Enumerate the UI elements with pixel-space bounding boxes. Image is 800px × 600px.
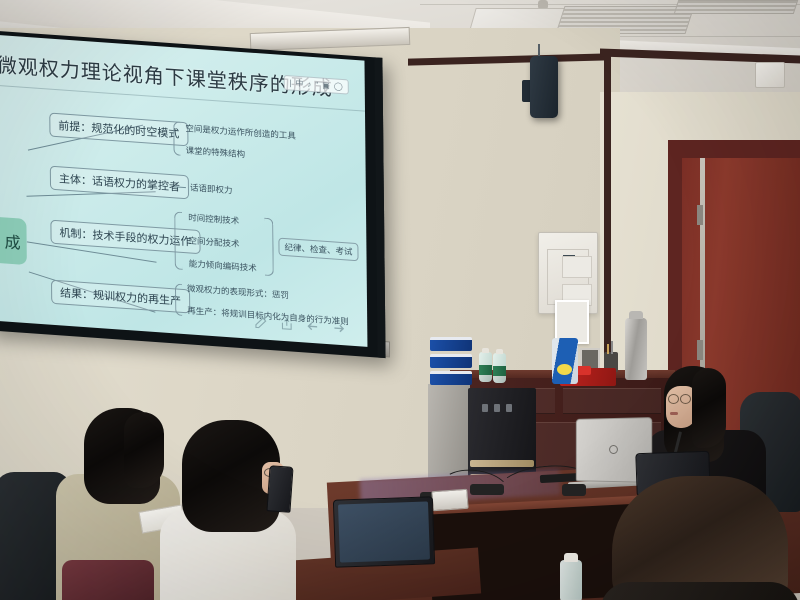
mindmap-leaf: 课堂的特殊结构 <box>185 144 245 160</box>
mindmap-node-result[interactable]: 结果：规训权力的再生产 <box>51 280 190 314</box>
mindmap-brace-group <box>264 218 274 277</box>
ime-glyph-4: ▣ <box>322 81 330 91</box>
blue-product-pack <box>552 338 578 384</box>
mindmap-leaf: 话语即权力 <box>190 181 233 196</box>
ime-glyph-0: | <box>289 78 291 87</box>
attendee-foreground-torso <box>600 582 800 600</box>
sprinkler-head <box>538 0 548 8</box>
ceiling-speaker <box>530 56 558 118</box>
presentation-slide: 微观权力理论视角下课堂秩序的形成 | 中 ♪ " ▣ ◯ 成 前提：规范化的时空… <box>0 34 367 347</box>
credenza-drawer[interactable] <box>563 388 661 414</box>
attendee-tablet[interactable] <box>266 465 293 513</box>
bottle-cap <box>496 349 503 354</box>
ceiling-air-vent <box>674 0 799 14</box>
door-hinge <box>697 205 703 225</box>
tissue-box <box>430 371 472 385</box>
attendee-beige-hair-side <box>124 412 164 488</box>
foreground-water-bottle <box>560 560 582 600</box>
mindmap-brace <box>173 121 180 156</box>
tissue-box <box>430 354 472 368</box>
mindmap-brace <box>175 283 182 316</box>
arrow-right-icon[interactable] <box>332 321 345 335</box>
conference-room-scene: 微观权力理论视角下课堂秩序的形成 | 中 ♪ " ▣ ◯ 成 前提：规范化的时空… <box>0 0 800 600</box>
presenter-glasses <box>668 394 679 404</box>
ime-glyph-1: 中 <box>295 78 303 90</box>
panel-inner-frame <box>547 249 589 305</box>
panel-switch-top[interactable] <box>562 256 592 278</box>
mindmap-group-result[interactable]: 纪律、检查、考试 <box>278 238 358 262</box>
bottle-cap <box>564 553 578 562</box>
water-bottle <box>493 353 506 383</box>
tissue-box <box>430 337 472 351</box>
presenter-glasses <box>680 394 691 404</box>
bottle-cap <box>482 348 489 353</box>
pen <box>607 344 609 354</box>
mindmap-leaf: 空间是权力运作所创造的工具 <box>185 122 296 142</box>
arrow-left-icon[interactable] <box>306 320 319 334</box>
ime-glyph-5: ◯ <box>334 81 343 91</box>
pen <box>611 341 613 354</box>
ime-glyph-2: ♪ <box>307 80 311 89</box>
mindmap-leaf: 能力倾向编码技术 <box>189 257 257 274</box>
slide-title: 微观权力理论视角下课堂秩序的形成 <box>0 49 333 102</box>
pencil-icon[interactable] <box>254 316 267 330</box>
presenter-mouth <box>670 412 678 415</box>
dispenser-band <box>470 460 534 467</box>
dispenser-button[interactable] <box>494 404 500 412</box>
attendee-laptop[interactable] <box>333 496 435 567</box>
laptop-brand-logo <box>609 445 618 454</box>
projection-screen: 微观权力理论视角下课堂秩序的形成 | 中 ♪ " ▣ ◯ 成 前提：规范化的时空… <box>0 30 386 358</box>
bottle-label <box>493 366 506 376</box>
thermos-bottle <box>625 318 647 380</box>
ime-glyph-3: " <box>315 80 318 89</box>
mindmap-leaf: 时间控制技术 <box>188 211 239 227</box>
wall-sensor-device <box>755 62 785 88</box>
mindmap-brace <box>174 211 183 270</box>
presenter-hair-right <box>692 368 726 448</box>
export-icon[interactable] <box>280 318 293 332</box>
door-hinge <box>697 340 703 360</box>
thermos-lid <box>629 311 643 319</box>
dispenser-button[interactable] <box>482 404 488 412</box>
water-bottle <box>479 352 492 382</box>
pack-label-icon <box>557 364 572 375</box>
mindmap-leaf: 微观权力的表现形式：惩罚 <box>187 282 289 301</box>
dispenser-button[interactable] <box>506 404 512 412</box>
handbag <box>62 560 154 600</box>
wall-corner-trim <box>604 56 611 386</box>
desk-device[interactable] <box>562 484 586 496</box>
bottle-label <box>479 365 492 375</box>
mindmap-root-node[interactable]: 成 <box>0 215 27 265</box>
attendee-laptop-screen <box>338 501 430 562</box>
